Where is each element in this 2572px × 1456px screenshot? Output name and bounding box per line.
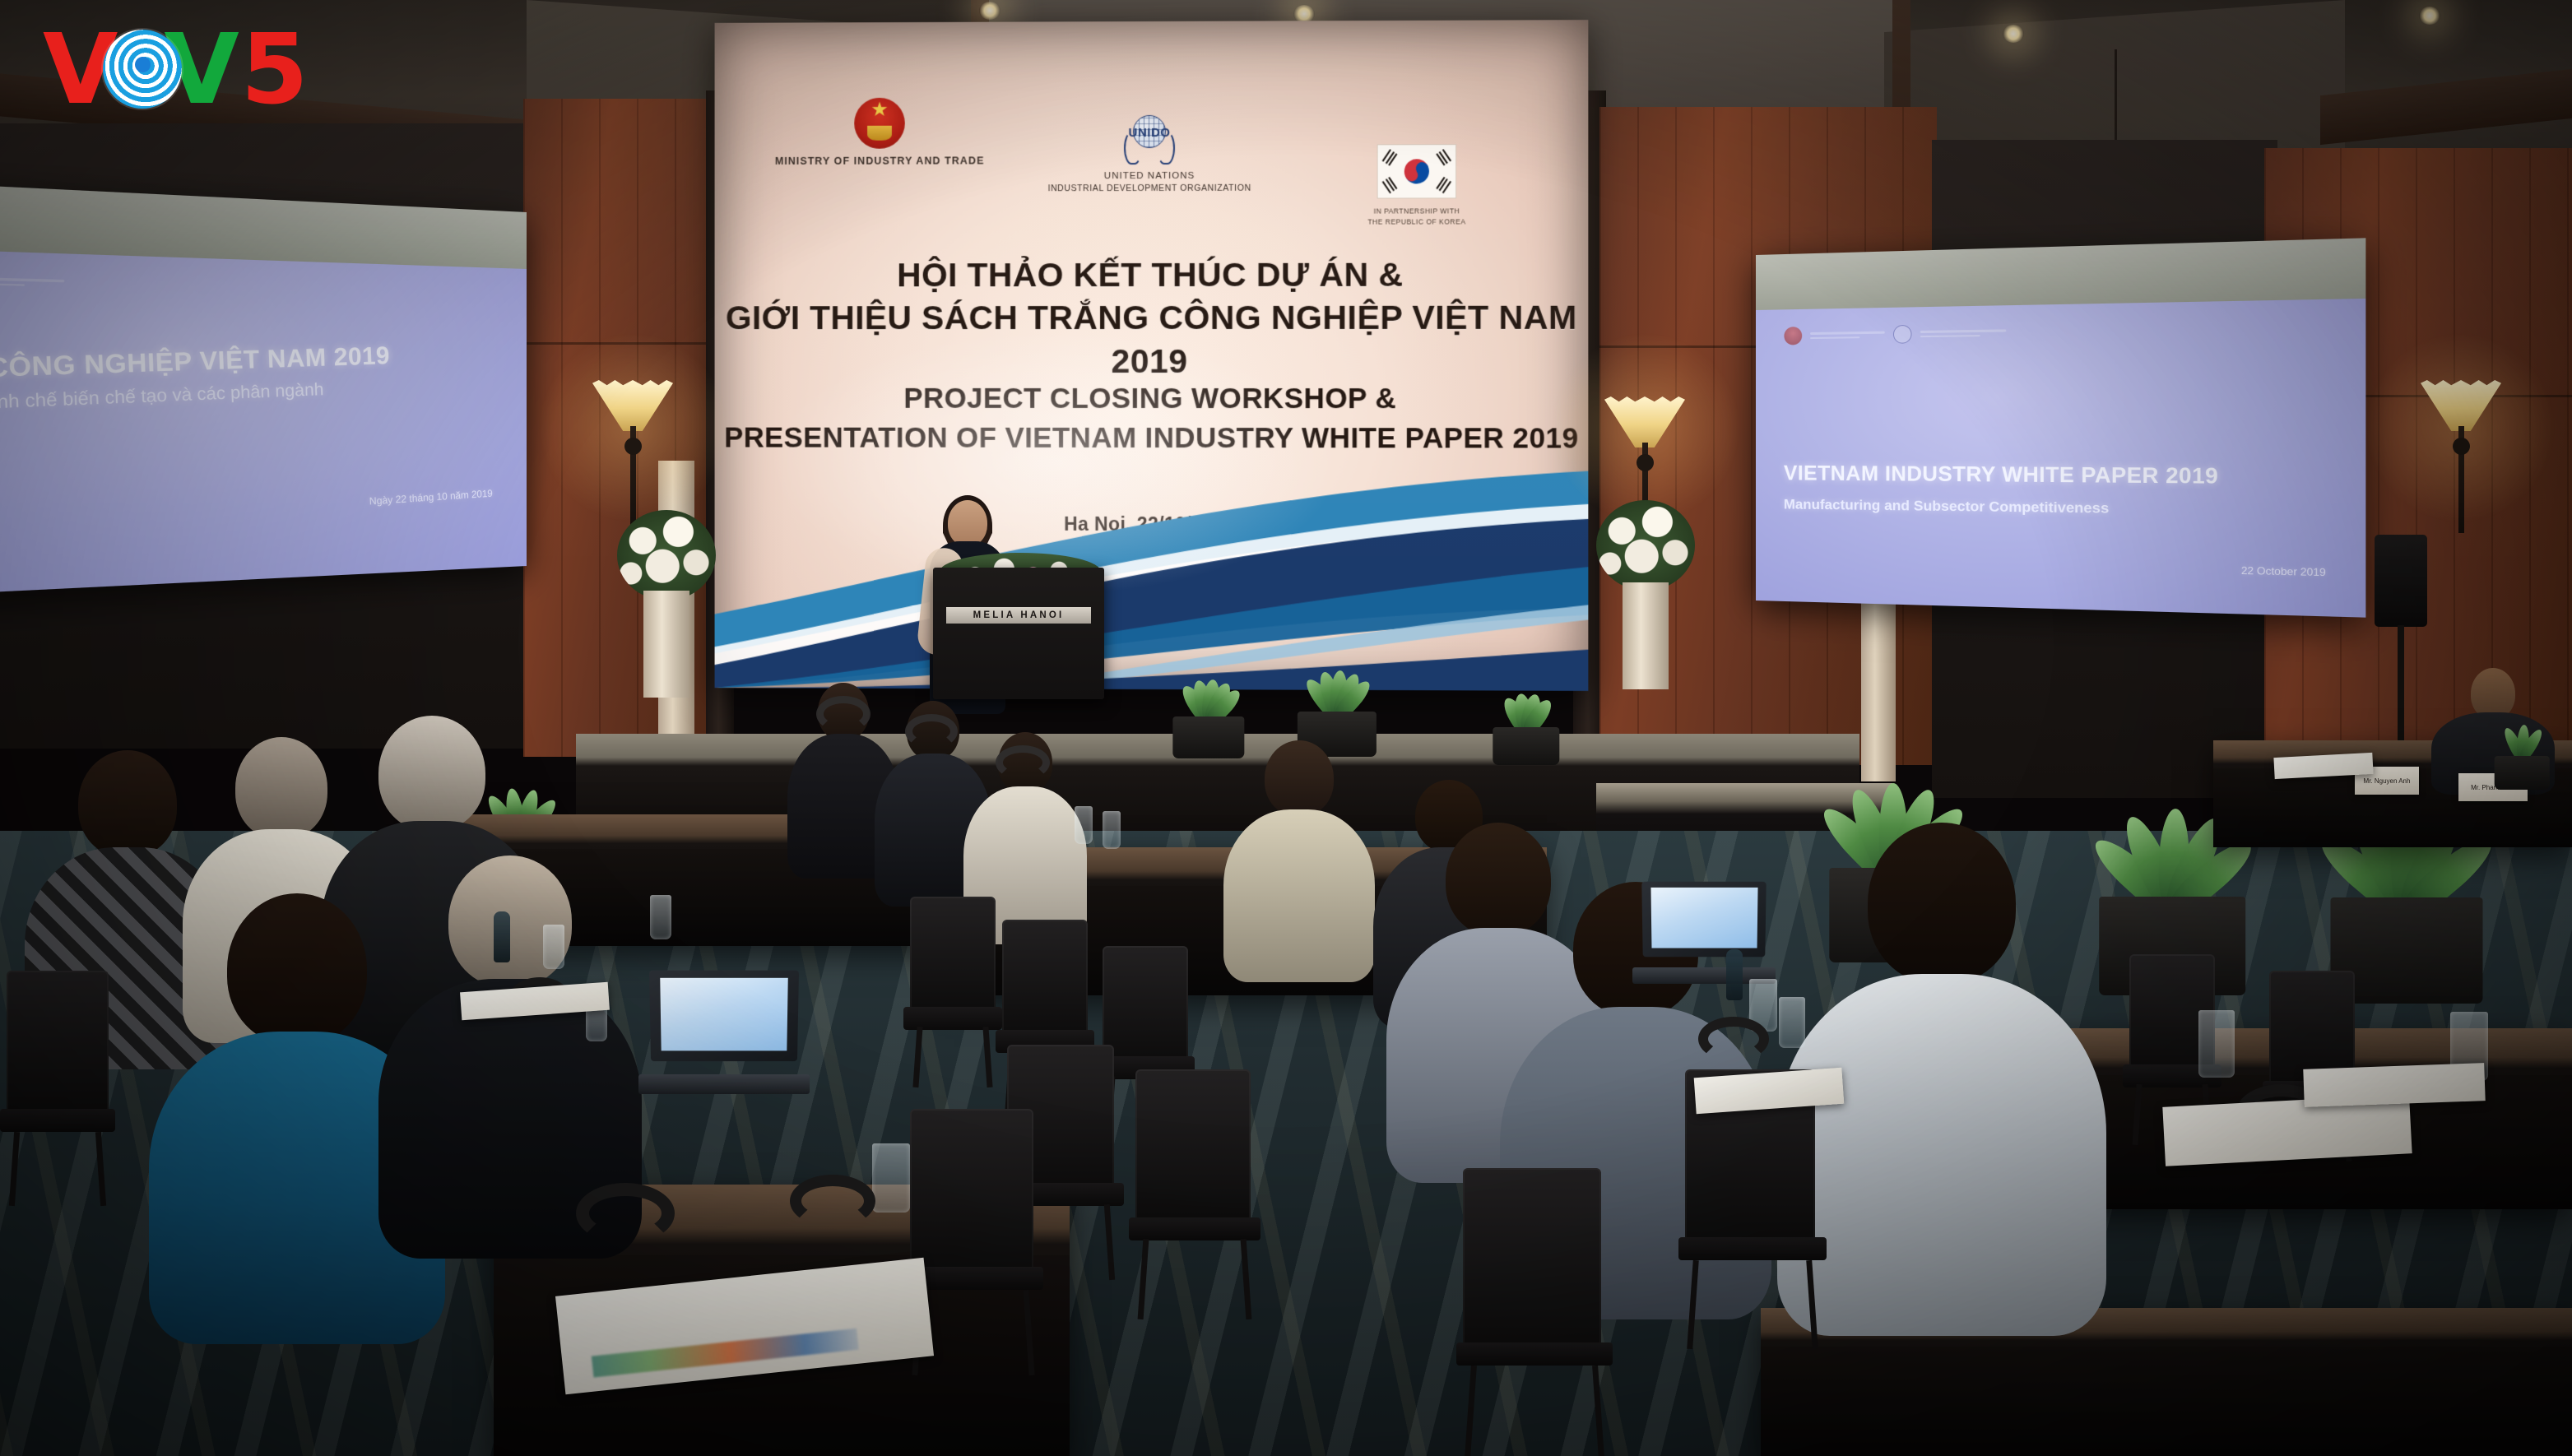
podium-venue-plate: MELIA HANOI — [946, 607, 1091, 624]
unido-logo: UNIDO UNITED NATIONS INDUSTRIAL DEVELOPM… — [1026, 115, 1273, 194]
wall-seam — [523, 342, 729, 345]
laptop-right — [1642, 882, 1766, 984]
screen-left-slide-title: ẮNG CÔNG NGHIỆP VIỆT NAM 2019 — [0, 342, 390, 387]
screen-left-slide-logos — [0, 269, 64, 294]
globe-icon — [103, 30, 182, 109]
korea-partnership-line-2: THE REPUBLIC OF KOREA — [1338, 216, 1495, 227]
unido-line-1: UNITED NATIONS — [1026, 171, 1273, 182]
korea-partnership-line-1: IN PARTNERSHIP WITH — [1338, 206, 1495, 216]
water-glass — [872, 1143, 910, 1213]
republic-of-korea-logo: IN PARTNERSHIP WITH THE REPUBLIC OF KORE… — [1338, 144, 1495, 227]
unido-mini-icon — [1892, 325, 1911, 344]
speaking-podium: MELIA HANOI — [933, 568, 1104, 699]
headset-on-table — [790, 1175, 875, 1227]
projection-screen-left: ẮNG CÔNG NGHIỆP VIỆT NAM 2019 tranh ngàn… — [0, 180, 527, 598]
vov5-watermark-logo: V V 5 — [43, 18, 309, 120]
banner-title-vi-line2: GIỚI THIỆU SÁCH TRẮNG CÔNG NGHIỆP VIỆT N… — [715, 296, 1589, 383]
chair — [1456, 1168, 1613, 1456]
chair — [903, 897, 1002, 1086]
banner-title-vi-line1: HỘI THẢO KẾT THÚC DỰ ÁN & — [715, 253, 1589, 296]
screen-left-slide-date: Ngày 22 tháng 10 năm 2019 — [369, 488, 493, 508]
screen-left-surface: ẮNG CÔNG NGHIỆP VIỆT NAM 2019 tranh ngàn… — [0, 247, 527, 598]
flower-stand-left — [609, 510, 724, 732]
unido-acronym-text: UNIDO — [1122, 126, 1177, 140]
audience-person — [1229, 740, 1369, 971]
ministry-logo-caption: MINISTRY OF INDUSTRY AND TRADE — [757, 155, 1002, 167]
headset-on-table — [576, 1183, 675, 1244]
screen-left-slide-subtitle: tranh ngành chế biến chế tạo và các phân… — [0, 380, 324, 417]
banner-title-vietnamese: HỘI THẢO KẾT THÚC DỰ ÁN & GIỚI THIỆU SÁC… — [715, 253, 1589, 383]
pa-speaker-box — [2375, 535, 2427, 627]
stage-plant-3 — [1481, 683, 1572, 765]
screen-right-surface: VIETNAM INDUSTRY WHITE PAPER 2019 Manufa… — [1756, 299, 2365, 618]
vietnam-emblem-mini-icon — [1784, 327, 1802, 345]
downlight — [2419, 7, 2440, 25]
water-glass — [1075, 806, 1093, 844]
water-glass — [1103, 811, 1121, 849]
ministry-of-industry-and-trade-logo: MINISTRY OF INDUSTRY AND TRADE — [757, 97, 1002, 166]
korea-flag-icon — [1377, 144, 1457, 198]
screen-right-slide-logos — [1784, 323, 2006, 345]
head-table-plant — [2485, 716, 2559, 790]
chair — [0, 971, 115, 1201]
water-glass — [650, 895, 671, 939]
water-bottle — [1726, 949, 1743, 1000]
event-backdrop-banner: MINISTRY OF INDUSTRY AND TRADE UNIDO UNI… — [715, 20, 1589, 691]
downlight — [979, 2, 1000, 20]
conference-hall-photo: MINISTRY OF INDUSTRY AND TRADE UNIDO UNI… — [0, 0, 2572, 1456]
namecard-text: Mr. Nguyen Anh — [2364, 777, 2411, 785]
watermark-digit-5: 5 — [241, 21, 309, 118]
water-bottle — [494, 911, 510, 962]
banner-title-en-line1: PROJECT CLOSING WORKSHOP & — [715, 379, 1589, 420]
headphone-icon — [905, 714, 958, 749]
podium-venue-text: MELIA HANOI — [973, 610, 1065, 620]
water-glass — [543, 925, 564, 969]
water-glass — [2198, 1010, 2235, 1078]
document-on-table — [2303, 1063, 2485, 1107]
banner-logo-row: MINISTRY OF INDUSTRY AND TRADE UNIDO UNI… — [715, 96, 1589, 221]
flower-stand-right — [1588, 500, 1703, 739]
headphone-icon — [816, 696, 870, 732]
downlight — [2003, 25, 2024, 43]
screen-right-slide-title: VIETNAM INDUSTRY WHITE PAPER 2019 — [1784, 461, 2218, 489]
projection-screen-right: VIETNAM INDUSTRY WHITE PAPER 2019 Manufa… — [1756, 238, 2365, 617]
presenter-head — [948, 500, 987, 546]
audience-person — [387, 856, 634, 1234]
headphone-icon — [996, 745, 1050, 780]
headset-on-table — [1698, 1017, 1769, 1061]
screen-right-slide-date: 22 October 2019 — [2241, 564, 2326, 578]
wall-sconce-far-right — [2421, 380, 2501, 536]
chair — [1129, 1069, 1260, 1316]
banner-wave-graphic — [715, 443, 1589, 691]
laptop-left — [650, 971, 798, 1094]
unido-emblem-icon: UNIDO — [1122, 115, 1177, 166]
unido-line-2: INDUSTRIAL DEVELOPMENT ORGANIZATION — [1026, 183, 1273, 194]
vietnam-emblem-icon — [854, 98, 905, 149]
water-glass — [1779, 997, 1805, 1048]
screen-right-slide-subtitle: Manufacturing and Subsector Competitiven… — [1784, 496, 2109, 517]
